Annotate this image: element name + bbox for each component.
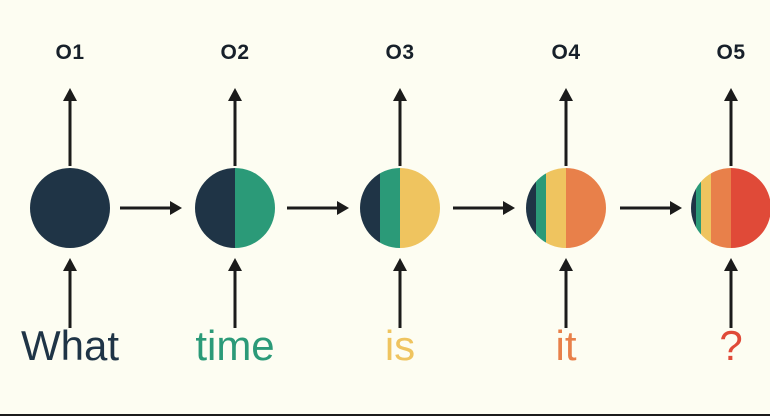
output-arrow-1 [61, 88, 79, 171]
circle-segments-3 [360, 168, 440, 248]
output-label-2: O2 [165, 42, 305, 63]
sequence-step-5: O5 ? [661, 0, 770, 416]
circle-5-segment-4 [711, 168, 731, 248]
circle-5-segment-5 [731, 168, 770, 248]
arrow-up-icon [391, 88, 409, 166]
arrow-up-icon [61, 258, 79, 328]
input-word-4: it [496, 325, 636, 367]
circle-4-segment-3 [546, 168, 566, 248]
state-circle-4 [526, 168, 606, 248]
sequence-step-3: O3 is [330, 0, 470, 416]
circle-3-segment-1 [360, 168, 380, 248]
input-word-5: ? [661, 325, 770, 367]
input-word-3: is [330, 325, 470, 367]
circle-segments-4 [526, 168, 606, 248]
state-circle-5 [691, 168, 770, 248]
arrow-up-icon [226, 88, 244, 166]
circle-4-segment-2 [536, 168, 546, 248]
output-label-3: O3 [330, 42, 470, 63]
arrow-up-icon [391, 258, 409, 328]
output-arrow-3 [391, 88, 409, 171]
sequence-step-4: O4 it [496, 0, 636, 416]
sequence-step-1: O1 What [0, 0, 140, 416]
diagram-canvas: O1 What O2 [0, 0, 770, 416]
output-arrow-5 [722, 88, 740, 171]
arrow-up-icon [722, 258, 740, 328]
arrow-up-icon [557, 88, 575, 166]
circle-4-segment-1 [526, 168, 536, 248]
circle-1-segment-1 [30, 168, 110, 248]
circle-5-segment-3 [701, 168, 711, 248]
arrow-up-icon [557, 258, 575, 328]
input-word-1: What [0, 325, 140, 367]
arrow-up-icon [722, 88, 740, 166]
sequence-step-2: O2 time [165, 0, 305, 416]
output-label-5: O5 [661, 42, 770, 63]
circle-segments-2 [195, 168, 275, 248]
output-label-4: O4 [496, 42, 636, 63]
circle-3-segment-2 [380, 168, 400, 248]
input-word-2: time [165, 325, 305, 367]
circle-3-segment-3 [400, 168, 440, 248]
circle-segments-5 [691, 168, 770, 248]
circle-2-segment-2 [235, 168, 275, 248]
state-circle-2 [195, 168, 275, 248]
output-arrow-4 [557, 88, 575, 171]
state-circle-3 [360, 168, 440, 248]
output-arrow-2 [226, 88, 244, 171]
state-circle-1 [30, 168, 110, 248]
arrow-up-icon [61, 88, 79, 166]
circle-segments-1 [30, 168, 110, 248]
circle-4-segment-4 [566, 168, 606, 248]
circle-2-segment-1 [195, 168, 235, 248]
arrow-up-icon [226, 258, 244, 328]
output-label-1: O1 [0, 42, 140, 63]
